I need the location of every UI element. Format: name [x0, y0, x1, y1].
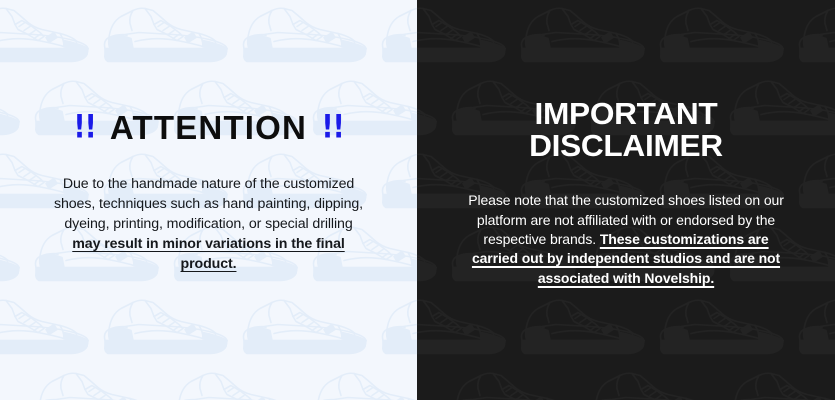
bang-left-icon: !! — [73, 111, 95, 143]
attention-body-normal: Due to the handmade nature of the custom… — [54, 176, 363, 232]
attention-heading-word: ATTENTION — [110, 111, 307, 144]
disclaimer-panel: IMPORTANT DISCLAIMER Please note that th… — [417, 0, 835, 400]
attention-heading: !! ATTENTION !! — [72, 111, 346, 144]
disclaimer-heading-line2: DISCLAIMER — [529, 130, 723, 162]
bang-right-icon: !! — [322, 111, 344, 143]
split-notice-banner: !! ATTENTION !! Due to the handmade natu… — [0, 0, 835, 400]
attention-content: !! ATTENTION !! Due to the handmade natu… — [0, 0, 417, 400]
attention-body: Due to the handmade nature of the custom… — [53, 175, 365, 274]
disclaimer-body: Please note that the customized shoes li… — [467, 191, 785, 288]
attention-body-emphasis: may result in minor variations in the fi… — [72, 236, 344, 272]
attention-panel: !! ATTENTION !! Due to the handmade natu… — [0, 0, 417, 400]
disclaimer-heading: IMPORTANT DISCLAIMER — [529, 98, 723, 162]
disclaimer-content: IMPORTANT DISCLAIMER Please note that th… — [417, 0, 835, 400]
disclaimer-heading-line1: IMPORTANT — [529, 98, 723, 130]
